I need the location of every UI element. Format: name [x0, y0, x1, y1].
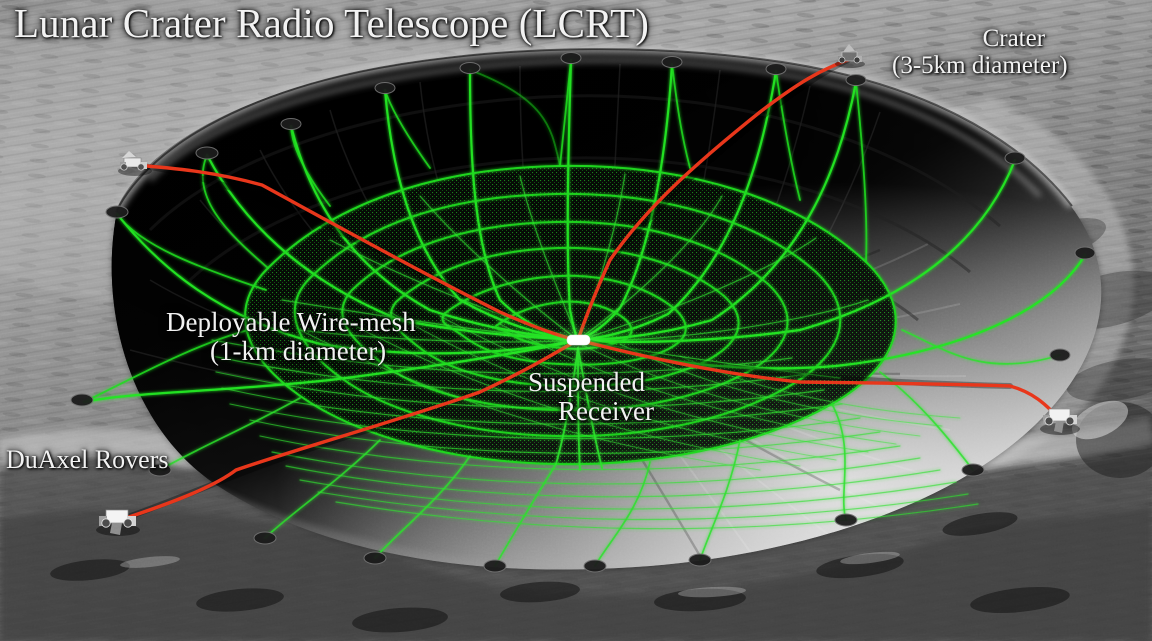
label-crater: Crater (3-5km diameter) [960, 26, 1068, 79]
label-receiver-line1: Suspended [528, 367, 645, 397]
label-receiver: Suspended Receiver [528, 368, 654, 425]
label-duaxel-rovers: DuAxel Rovers [6, 446, 168, 474]
label-wire-mesh-line1: Deployable Wire-mesh [166, 307, 416, 337]
label-wire-mesh-line2: (1-km diameter) [210, 337, 416, 366]
label-receiver-line2: Receiver [558, 397, 654, 426]
label-crater-line1: Crater [960, 26, 1068, 53]
label-crater-line2: (3-5km diameter) [892, 53, 1068, 80]
label-wire-mesh: Deployable Wire-mesh (1-km diameter) [166, 308, 416, 365]
lcrt-illustration: Lunar Crater Radio Telescope (LCRT) Crat… [0, 0, 1152, 641]
page-title: Lunar Crater Radio Telescope (LCRT) [14, 2, 649, 45]
